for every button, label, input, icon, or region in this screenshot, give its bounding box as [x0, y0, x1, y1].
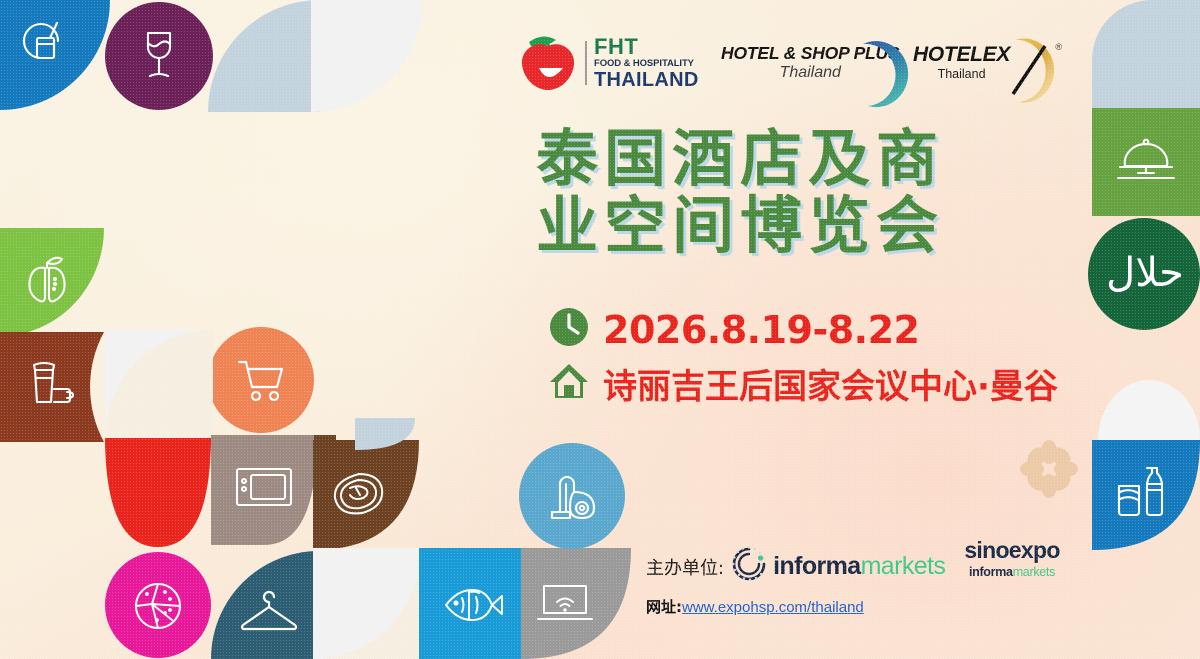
halal-label: حلال [1106, 253, 1184, 293]
clothes-hanger-icon [238, 586, 300, 638]
sinoexpo-logo: sinoexpo informamarkets [958, 539, 1066, 581]
halal-icon: حلال [1100, 240, 1190, 306]
title-line-1: 泰国酒店及商 [536, 126, 1026, 193]
decor-block-red-body [105, 435, 211, 547]
website-link[interactable]: www.expohsp.com/thailand [682, 599, 864, 616]
event-info: 2026.8.19-8.22 诗丽吉王后国家会议中心·曼谷 [548, 306, 1058, 414]
fht-logo-text: FHT FOOD & HOSPITALITY THAILAND [594, 36, 699, 90]
event-title: 泰国酒店及商 业空间博览会 [536, 126, 1026, 260]
fht-line1: FHT [594, 36, 699, 58]
shopping-cart-icon [233, 354, 289, 406]
informa-circle-icon [730, 545, 768, 588]
apple-icon [515, 30, 581, 97]
wine-glass-icon [134, 28, 184, 84]
url-label: 网址: [646, 596, 682, 617]
flower-decor-icon [1020, 440, 1078, 498]
logo-divider [585, 41, 587, 85]
decor-block-white-right [1098, 380, 1200, 440]
decor-block-white-top [311, 0, 423, 112]
event-date-row: 2026.8.19-8.22 [548, 306, 1058, 353]
hotelex-logo: HOTELEX Thailand ® [913, 44, 1060, 81]
registered-mark: ® [1055, 42, 1062, 52]
decor-block-lightblue-small [355, 418, 415, 450]
sinoexpo-sub-markets: markets [1013, 565, 1055, 579]
footer: 主办单位: [646, 545, 1076, 617]
decor-block-white-bottom [313, 548, 421, 659]
informa-markets-logo: informamarkets [730, 545, 945, 588]
croissant-icon [130, 578, 186, 632]
hotel-shop-plus-logo: HOTEL & SHOP PLUS Thailand [721, 44, 899, 81]
beverage-cup-icon [18, 18, 70, 70]
decor-block-lightblue-right [1092, 0, 1200, 110]
informa-markets-text: informamarkets [773, 552, 945, 581]
fht-logo: FHT FOOD & HOSPITALITY THAILAND [515, 30, 709, 97]
event-venue: 诗丽吉王后国家会议中心·曼谷 [603, 359, 1058, 408]
markets-word: markets [861, 552, 946, 580]
url-row: 网址: www.expohsp.com/thailand [646, 596, 1076, 617]
oyster-icon [330, 468, 388, 520]
vacuum-icon [542, 468, 602, 526]
laptop-wifi-icon [534, 578, 596, 628]
promo-banner: حلال [0, 0, 1200, 659]
clock-icon [548, 306, 590, 353]
event-date: 2026.8.19-8.22 [603, 308, 919, 352]
microwave-icon [233, 462, 295, 514]
fht-line3: THAILAND [594, 70, 699, 90]
bottles-icon [1112, 462, 1174, 524]
fish-icon [441, 580, 505, 630]
crescent-icon [841, 38, 913, 117]
organizer-label: 主办单位: [646, 554, 724, 580]
decor-block-white-mid-cut [105, 330, 213, 438]
cloche-icon [1114, 134, 1178, 190]
organizer-row: 主办单位: [646, 545, 1076, 588]
event-venue-row: 诗丽吉王后国家会议中心·曼谷 [548, 359, 1058, 408]
sinoexpo-word: sinoexpo [964, 537, 1059, 563]
decor-block-lightblue-top [208, 0, 320, 112]
sinoexpo-subtext: informamarkets [969, 565, 1055, 579]
coffee-cup-icon [24, 352, 80, 410]
fht-line2: FOOD & HOSPITALITY [594, 59, 699, 69]
home-icon [548, 360, 590, 407]
gold-swoosh-icon [991, 32, 1063, 115]
apple-slice-icon [22, 250, 72, 306]
informa-word: informa [773, 552, 860, 580]
title-line-2: 业空间博览会 [536, 193, 1026, 260]
logo-row: FHT FOOD & HOSPITALITY THAILAND HOTEL & … [515, 24, 1060, 102]
sinoexpo-sub-informa: informa [969, 565, 1013, 579]
